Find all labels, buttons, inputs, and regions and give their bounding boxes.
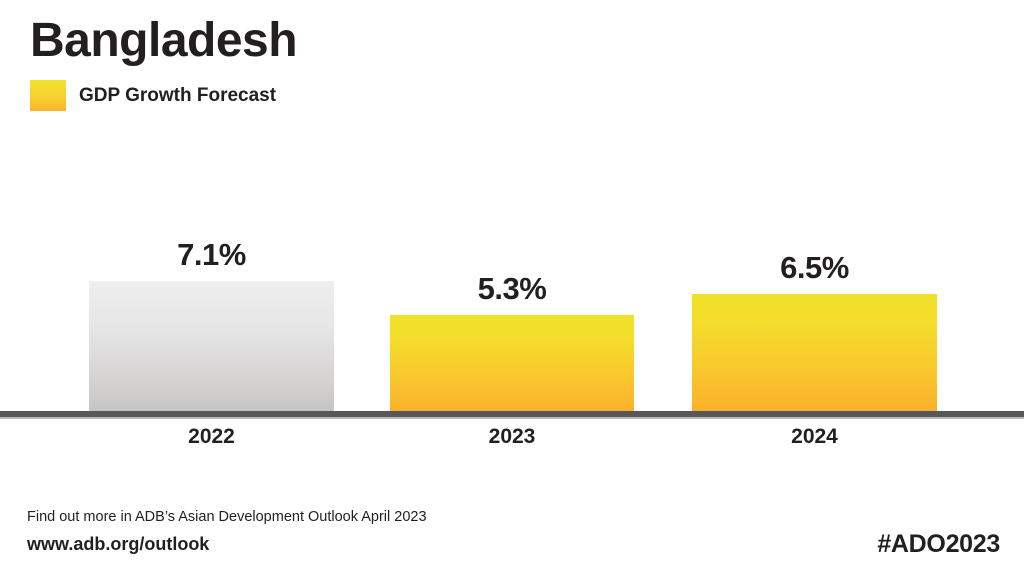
chart-baseline-axis (0, 411, 1024, 417)
x-axis-tick-label-2023: 2023 (390, 424, 634, 449)
x-axis-tick-label-2022: 2022 (89, 424, 334, 449)
bar-rect-2023[interactable] (390, 315, 634, 413)
chart-baseline-shadow (0, 417, 1024, 419)
bar-rect-2024[interactable] (692, 294, 937, 413)
x-axis-tick-label-2024: 2024 (692, 424, 937, 449)
bar-column-2023: 5.3% (390, 273, 634, 413)
chart-legend: GDP Growth Forecast (30, 80, 730, 111)
header: Bangladesh GDP Growth Forecast (30, 16, 730, 111)
bar-value-label-2022: 7.1% (177, 239, 246, 270)
footer-hashtag: #ADO2023 (877, 530, 1000, 559)
footer-url-link[interactable]: www.adb.org/outlook (27, 534, 209, 555)
bar-column-2022: 7.1% (89, 239, 334, 413)
legend-color-swatch-icon (30, 80, 66, 111)
legend-label: GDP Growth Forecast (79, 85, 276, 107)
bar-rect-2022[interactable] (89, 281, 334, 413)
bar-column-2024: 6.5% (692, 252, 937, 413)
bar-value-label-2024: 6.5% (780, 252, 849, 283)
footer-note: Find out more in ADB’s Asian Development… (27, 509, 427, 525)
page-title: Bangladesh (30, 16, 730, 66)
bar-value-label-2023: 5.3% (478, 273, 547, 304)
